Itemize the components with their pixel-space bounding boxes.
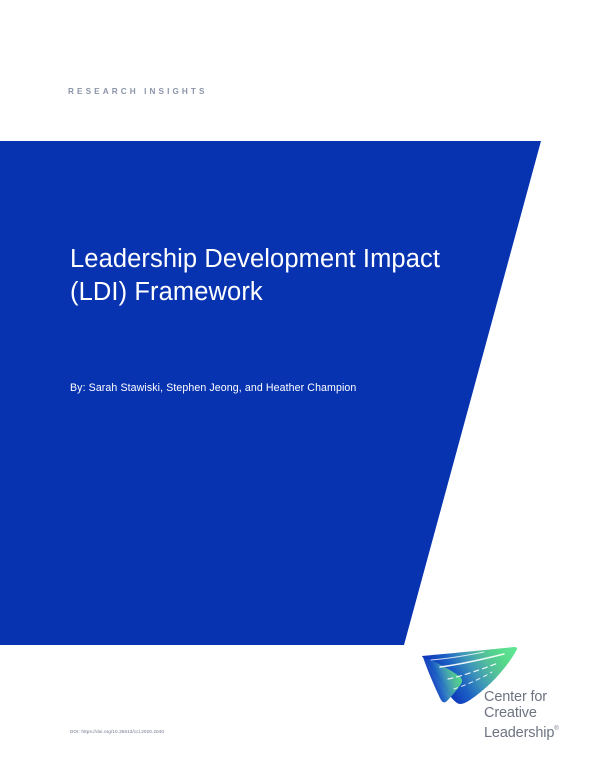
series-label: RESEARCH INSIGHTS	[68, 87, 208, 96]
ccl-wordmark-line-2: Creative	[484, 705, 574, 721]
page-title: Leadership Development Impact (LDI) Fram…	[70, 243, 470, 309]
ccl-wordmark-line-1: Center for	[484, 689, 574, 705]
ccl-wordmark: Center for Creative Leadership®	[484, 689, 574, 742]
page-title-line-2: (LDI) Framework	[70, 276, 470, 309]
document-cover-page: RESEARCH INSIGHTS Leadership Development…	[0, 0, 600, 776]
ccl-wordmark-line-3-text: Leadership	[484, 725, 554, 741]
doi-text: DOI: https://doi.org/10.35613/ccl.2020.2…	[70, 728, 164, 735]
ccl-wordmark-line-3: Leadership®	[484, 721, 574, 741]
registered-trademark-icon: ®	[554, 726, 558, 732]
author-byline: By: Sarah Stawiski, Stephen Jeong, and H…	[70, 381, 356, 396]
page-title-line-1: Leadership Development Impact	[70, 243, 470, 276]
ccl-logo: Center for Creative Leadership®	[418, 646, 568, 742]
